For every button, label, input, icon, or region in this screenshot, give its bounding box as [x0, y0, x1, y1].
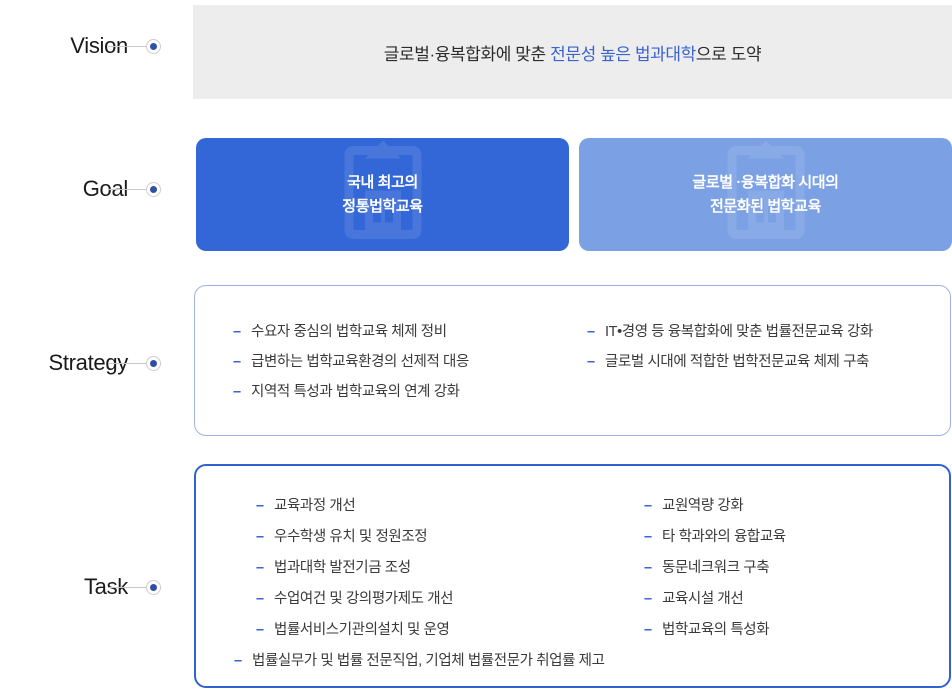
rail-connector-task: [108, 587, 148, 588]
list-item-label: 법률실무가 및 법률 전문직업, 기업체 법률전문가 취업률 제고: [252, 651, 605, 672]
bullet-dash-icon: –: [587, 352, 600, 373]
bullet-dash-icon: –: [644, 558, 657, 579]
list-item-label: 타 학과와의 융합교육: [662, 527, 786, 548]
list-item-label: 법학교육의 특성화: [662, 620, 769, 641]
list-item: – 급변하는 법학교육환경의 선제적 대응: [233, 352, 585, 373]
vision-text-highlight: 전문성 높은 법과대학: [550, 45, 696, 64]
list-item: – 교원역량 강화: [644, 496, 949, 517]
bullet-dash-icon: –: [644, 527, 657, 548]
list-item: – 법학교육의 특성화: [644, 620, 949, 641]
strategy-columns: – 수요자 중심의 법학교육 체제 정비 – 급변하는 법학교육환경의 선제적 …: [195, 322, 950, 412]
list-item-label: IT•경영 등 융복합화에 맞춘 법률전문교육 강화: [605, 322, 873, 343]
list-item: – 타 학과와의 융합교육: [644, 527, 949, 548]
bullet-dash-icon: –: [644, 620, 657, 641]
vision-text-after: 으로 도약: [696, 45, 761, 64]
list-item-label: 법률서비스기관의설치 및 운영: [274, 620, 449, 641]
task-column-right: – 교원역량 강화 – 타 학과와의 융합교육 – 동문네크워크 구축 – 교육…: [638, 496, 949, 682]
strategy-column-right: – IT•경영 등 융복합화에 맞춘 법률전문교육 강화 – 글로벌 시대에 적…: [585, 322, 950, 412]
rail-dot-strategy: [146, 356, 161, 371]
list-item: – IT•경영 등 융복합화에 맞춘 법률전문교육 강화: [587, 322, 950, 343]
list-item-label: 글로벌 시대에 적합한 법학전문교육 체제 구축: [605, 352, 869, 373]
goal-card-secondary-title: 글로벌 ·융복합화 시대의 전문화된 법학교육: [692, 171, 838, 218]
bullet-dash-icon: –: [233, 352, 246, 373]
list-item: – 교육시설 개선: [644, 589, 949, 610]
list-item: – 법과대학 발전기금 조성: [256, 558, 638, 579]
list-item: – 수요자 중심의 법학교육 체제 정비: [233, 322, 585, 343]
bullet-dash-icon: –: [256, 620, 269, 641]
task-panel: – 교육과정 개선 – 우수학생 유치 및 정원조정 – 법과대학 발전기금 조…: [194, 464, 951, 688]
vision-statement: 글로벌·융복합화에 맞춘 전문성 높은 법과대학으로 도약: [384, 40, 761, 65]
list-item: – 우수학생 유치 및 정원조정: [256, 527, 638, 548]
rail-dot-vision: [146, 39, 161, 54]
rail-dot-goal: [146, 182, 161, 197]
strategy-column-left: – 수요자 중심의 법학교육 체제 정비 – 급변하는 법학교육환경의 선제적 …: [195, 322, 585, 412]
goal-card-primary: 국내 최고의 정통법학교육: [196, 138, 569, 251]
list-item-label: 지역적 특성과 법학교육의 연계 강화: [251, 382, 460, 403]
bullet-dash-icon: –: [587, 322, 600, 343]
list-item-label: 교육과정 개선: [274, 496, 355, 517]
list-item: – 동문네크워크 구축: [644, 558, 949, 579]
task-columns: – 교육과정 개선 – 우수학생 유치 및 정원조정 – 법과대학 발전기금 조…: [196, 496, 949, 682]
bullet-dash-icon: –: [256, 527, 269, 548]
strategy-list-right: – IT•경영 등 융복합화에 맞춘 법률전문교육 강화 – 글로벌 시대에 적…: [587, 322, 950, 373]
vision-text-before: 글로벌·융복합화에 맞춘: [384, 45, 550, 64]
goal-card-primary-title: 국내 최고의 정통법학교육: [342, 171, 422, 218]
bullet-dash-icon: –: [644, 496, 657, 517]
list-item-label: 교육시설 개선: [662, 589, 743, 610]
goal-card-secondary: 글로벌 ·융복합화 시대의 전문화된 법학교육: [579, 138, 952, 251]
bullet-dash-icon: –: [256, 589, 269, 610]
list-item-label: 급변하는 법학교육환경의 선제적 대응: [251, 352, 469, 373]
rail-connector-goal: [108, 189, 148, 190]
list-item: – 교육과정 개선: [256, 496, 638, 517]
strategy-panel: – 수요자 중심의 법학교육 체제 정비 – 급변하는 법학교육환경의 선제적 …: [194, 285, 951, 436]
list-item: – 수업여건 및 강의평가제도 개선: [256, 589, 638, 610]
list-item-label: 수업여건 및 강의평가제도 개선: [274, 589, 453, 610]
list-item-label: 수요자 중심의 법학교육 체제 정비: [251, 322, 447, 343]
bullet-dash-icon: –: [256, 558, 269, 579]
strategy-list-left: – 수요자 중심의 법학교육 체제 정비 – 급변하는 법학교육환경의 선제적 …: [233, 322, 585, 403]
list-item: – 법률서비스기관의설치 및 운영: [256, 620, 638, 641]
rail-dot-task: [146, 580, 161, 595]
list-item-label: 교원역량 강화: [662, 496, 743, 517]
rail-connector-strategy: [108, 363, 148, 364]
bullet-dash-icon: –: [233, 322, 246, 343]
list-item: – 법률실무가 및 법률 전문직업, 기업체 법률전문가 취업률 제고: [234, 651, 638, 672]
task-list-left: – 교육과정 개선 – 우수학생 유치 및 정원조정 – 법과대학 발전기금 조…: [256, 496, 638, 672]
bullet-dash-icon: –: [256, 496, 269, 517]
list-item-label: 우수학생 유치 및 정원조정: [274, 527, 427, 548]
list-item: – 글로벌 시대에 적합한 법학전문교육 체제 구축: [587, 352, 950, 373]
bullet-dash-icon: –: [233, 382, 246, 403]
list-item: – 지역적 특성과 법학교육의 연계 강화: [233, 382, 585, 403]
list-item-label: 동문네크워크 구축: [662, 558, 769, 579]
task-list-right: – 교원역량 강화 – 타 학과와의 융합교육 – 동문네크워크 구축 – 교육…: [644, 496, 949, 641]
bullet-dash-icon: –: [234, 651, 247, 672]
task-column-left: – 교육과정 개선 – 우수학생 유치 및 정원조정 – 법과대학 발전기금 조…: [196, 496, 638, 682]
vision-panel: 글로벌·융복합화에 맞춘 전문성 높은 법과대학으로 도약: [193, 5, 952, 99]
bullet-dash-icon: –: [644, 589, 657, 610]
rail-connector-vision: [108, 46, 148, 47]
list-item-label: 법과대학 발전기금 조성: [274, 558, 411, 579]
vision-strategy-diagram: Vision Goal Strategy Task 글로벌·융복합화에 맞춘 전…: [0, 0, 952, 694]
